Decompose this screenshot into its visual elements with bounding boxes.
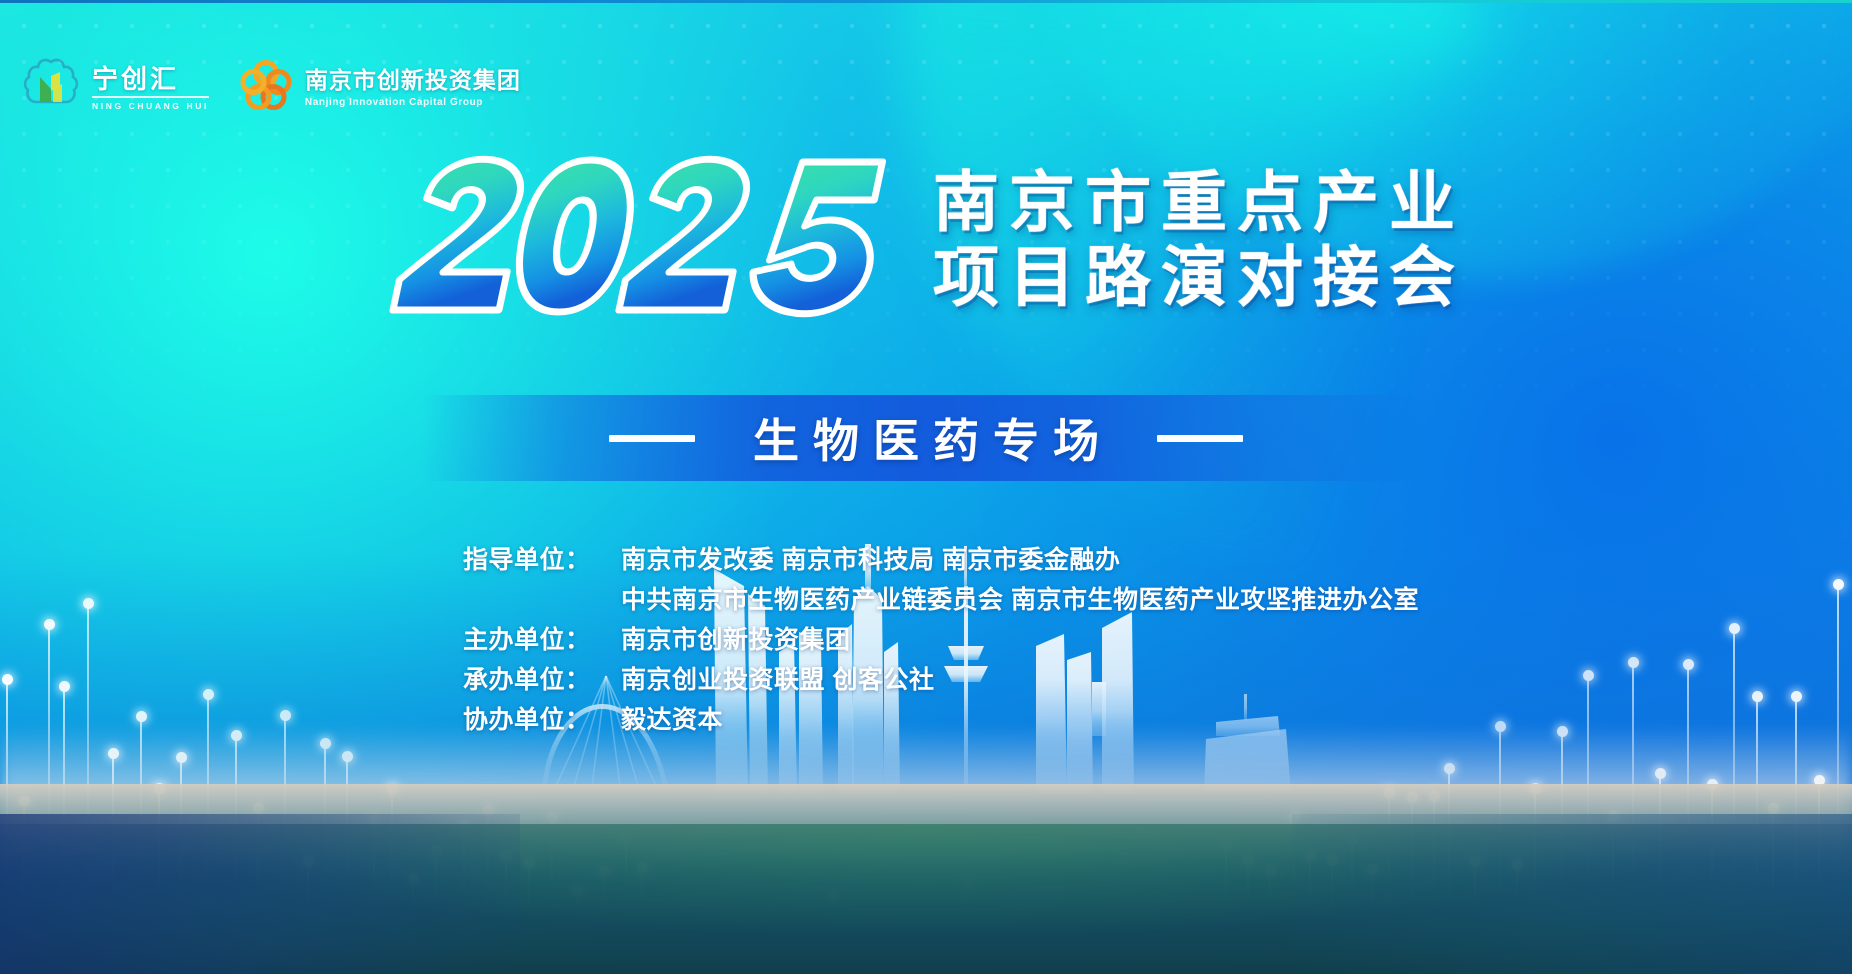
ningchuanghui-logo-text: 宁创汇 NING CHUANG HUI (92, 65, 209, 112)
subtitle-dash-left (609, 435, 695, 442)
main-title-line-1: 南京市重点产业 (933, 168, 1465, 237)
main-title-block: 南京市重点产业 项目路演对接会 (0, 150, 1852, 330)
subtitle-text: 生物医药专场 (739, 405, 1113, 471)
subtitle-band: 生物医药专场 (421, 395, 1431, 481)
nanjing-innovation-capital-logo-text: 南京市创新投资集团 Nanjing Innovation Capital Gro… (305, 68, 521, 109)
organizer-label: 主办单位： (463, 620, 599, 656)
nanjing-innovation-capital-logo: 南京市创新投资集团 Nanjing Innovation Capital Gro… (237, 57, 521, 120)
nanjing-innovation-flower-logo-icon (237, 57, 295, 120)
organizer-value: 毅达资本 (621, 700, 723, 736)
poster-canvas: 宁创汇 NING CHUANG HUI 南京市创新投资集团 (0, 0, 1852, 974)
ground-right-shade (1292, 814, 1852, 974)
organizer-list: 指导单位：南京市发改委 南京市科技局 南京市委金融办中共南京市生物医药产业链委员… (463, 540, 1419, 736)
top-edge-line (0, 0, 1852, 3)
subtitle-dash-right (1157, 435, 1243, 442)
year-2025-graphic (387, 150, 907, 330)
ningchuanghui-logo-en: NING CHUANG HUI (92, 101, 209, 112)
organizer-row: 主办单位：南京市创新投资集团 (463, 620, 1419, 656)
organizer-values: 毅达资本 (599, 700, 723, 736)
organizer-row: 指导单位：南京市发改委 南京市科技局 南京市委金融办中共南京市生物医药产业链委员… (463, 540, 1419, 616)
plum-blossom-n-logo-icon (20, 55, 82, 122)
organizer-values: 南京市创新投资集团 (599, 620, 851, 656)
header-logo-group: 宁创汇 NING CHUANG HUI 南京市创新投资集团 (20, 55, 521, 122)
ningchuanghui-logo: 宁创汇 NING CHUANG HUI (20, 55, 209, 122)
organizer-label: 承办单位： (463, 660, 599, 696)
organizer-value: 南京创业投资联盟 创客公社 (621, 660, 934, 696)
ningchuanghui-logo-rule (92, 96, 209, 98)
organizer-value: 南京市发改委 南京市科技局 南京市委金融办 (621, 540, 1419, 576)
organizer-row: 承办单位：南京创业投资联盟 创客公社 (463, 660, 1419, 696)
organizer-label: 指导单位： (463, 540, 599, 576)
organizer-row: 协办单位：毅达资本 (463, 700, 1419, 736)
main-title-text: 南京市重点产业 项目路演对接会 (933, 168, 1465, 313)
nanjing-innovation-capital-logo-en: Nanjing Innovation Capital Group (305, 96, 521, 109)
nanjing-innovation-capital-logo-cn: 南京市创新投资集团 (305, 68, 521, 93)
organizer-value: 南京市创新投资集团 (621, 620, 851, 656)
ground-left-shade (0, 814, 520, 974)
organizer-label: 协办单位： (463, 700, 599, 736)
organizer-values: 南京创业投资联盟 创客公社 (599, 660, 934, 696)
main-title-line-2: 项目路演对接会 (933, 243, 1465, 312)
ningchuanghui-logo-cn: 宁创汇 (92, 65, 209, 93)
organizer-value: 中共南京市生物医药产业链委员会 南京市生物医药产业攻坚推进办公室 (621, 580, 1419, 616)
organizer-values: 南京市发改委 南京市科技局 南京市委金融办中共南京市生物医药产业链委员会 南京市… (599, 540, 1419, 616)
